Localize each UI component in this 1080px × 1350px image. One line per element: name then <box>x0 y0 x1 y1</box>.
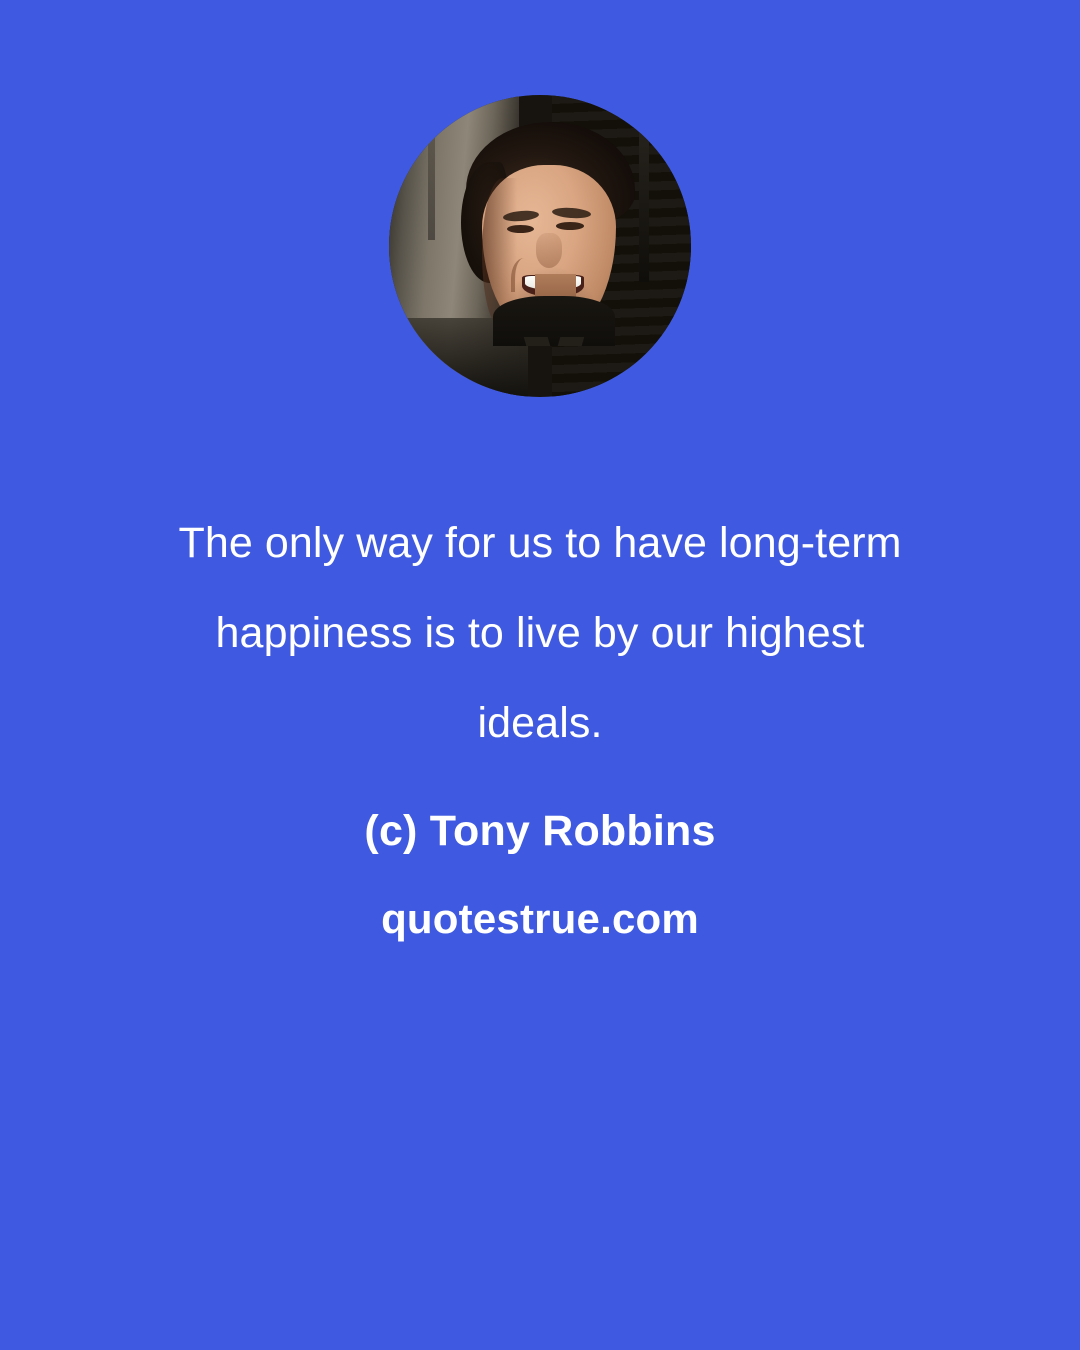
source-website: quotestrue.com <box>0 893 1080 945</box>
quote-line-3: ideals. <box>90 678 990 768</box>
portrait-shirt <box>493 296 615 345</box>
author-portrait-avatar <box>389 95 691 397</box>
portrait-photo <box>389 95 691 397</box>
quote-line-1: The only way for us to have long-term <box>90 498 990 588</box>
photo-wall-seam <box>428 95 435 240</box>
quote-card: The only way for us to have long-term ha… <box>0 0 1080 1350</box>
portrait-collar-left <box>523 337 550 346</box>
quote-attribution: (c) Tony Robbins <box>0 805 1080 857</box>
quote-text: The only way for us to have long-term ha… <box>90 498 990 768</box>
quote-line-2: happiness is to live by our highest <box>90 588 990 678</box>
portrait-eyebrow-right <box>551 206 591 219</box>
portrait-eye-left <box>507 225 534 233</box>
portrait-eye-right <box>556 222 584 230</box>
photo-panel-edge <box>639 95 649 282</box>
portrait-nose <box>536 233 563 267</box>
portrait-collar-right <box>557 337 584 346</box>
portrait-head <box>471 122 631 345</box>
